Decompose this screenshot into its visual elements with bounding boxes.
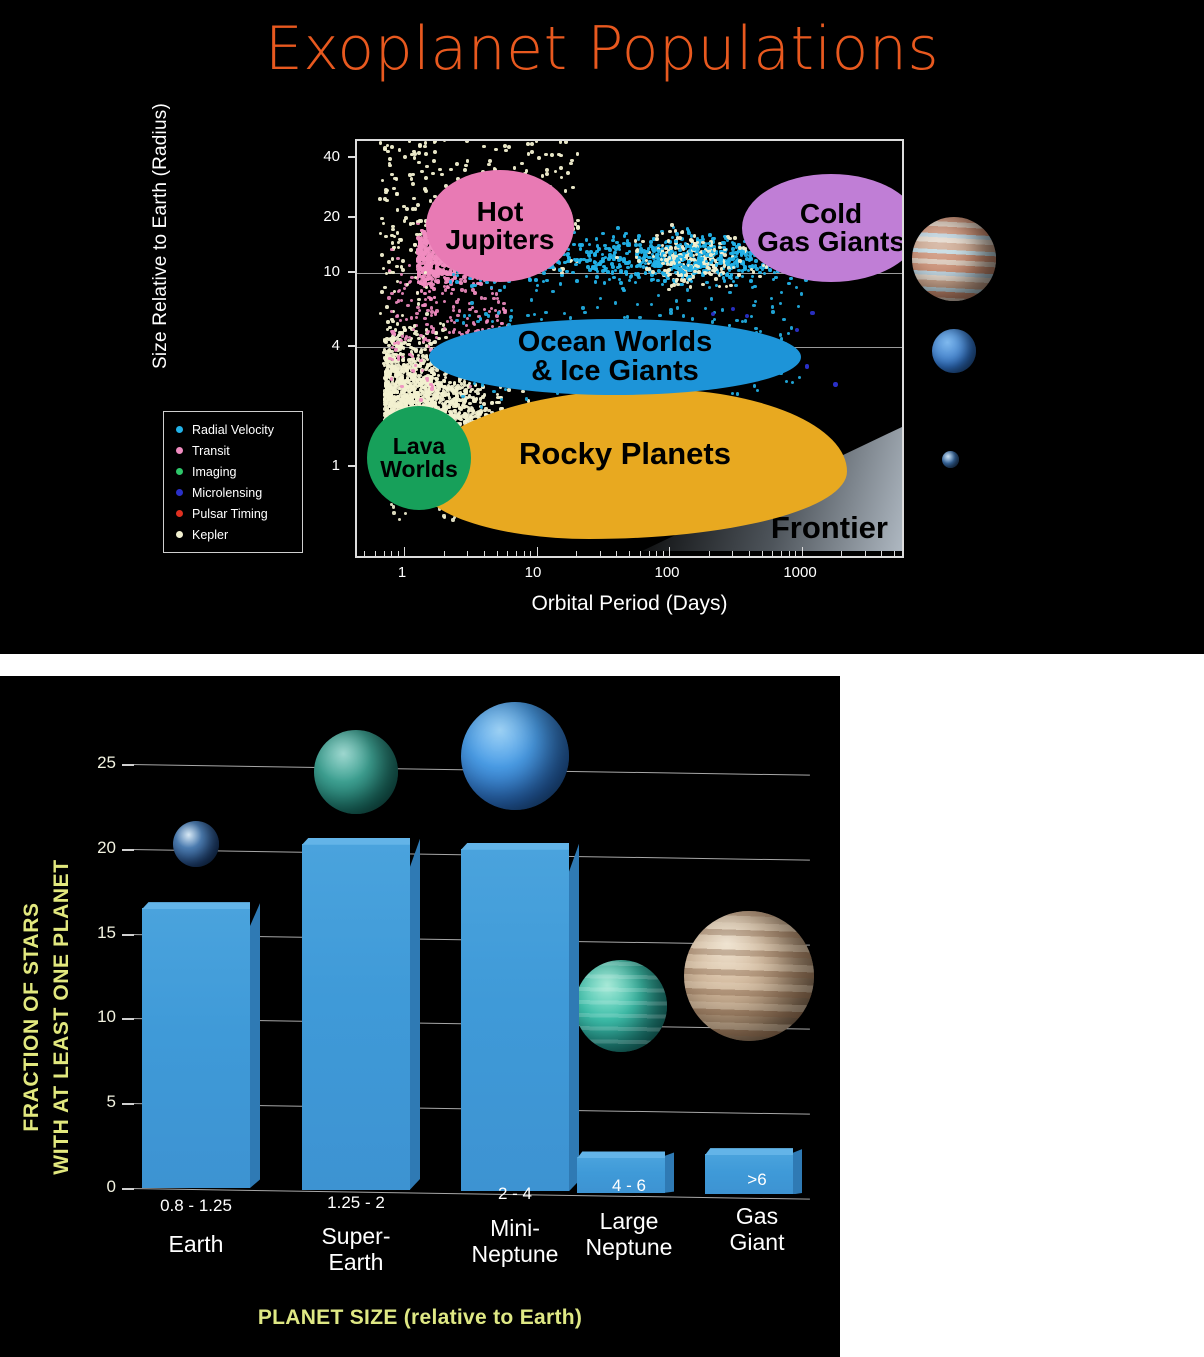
bar-mini-neptune[interactable]	[461, 849, 569, 1191]
region-frontier-label: Frontier	[771, 510, 888, 546]
bar-top-face	[705, 1148, 793, 1155]
legend-dot-icon	[176, 447, 183, 454]
scatter-x-minor-tick	[865, 551, 866, 556]
bar-y-axis-label: FRACTION OF STARS WITH AT LEAST ONE PLAN…	[18, 676, 80, 1357]
scatter-x-minor-tick	[795, 551, 796, 556]
scatter-x-minor-tick	[894, 551, 895, 556]
scatter-x-minor-tick	[404, 547, 405, 556]
bar-ytick-dash	[122, 1103, 134, 1105]
region-ocean-worlds: Ocean Worlds & Ice Giants	[429, 319, 801, 395]
bar-ytick-dash	[122, 1018, 134, 1020]
legend-item-imaging[interactable]: Imaging	[170, 461, 296, 482]
scatter-x-minor-tick	[649, 551, 650, 556]
legend-dot-icon	[176, 531, 183, 538]
bar-ytick-15: 15	[76, 923, 116, 943]
scatter-x-minor-tick	[484, 551, 485, 556]
scatter-x-minor-tick	[467, 551, 468, 556]
bar-category-label-line: Giant	[677, 1230, 837, 1256]
scatter-x-minor-tick	[732, 551, 733, 556]
bar-top-face	[302, 838, 410, 845]
scatter-x-minor-tick	[709, 551, 710, 556]
scatter-x-minor-tick	[749, 551, 750, 556]
legend-item-transit[interactable]: Transit	[170, 440, 296, 461]
scatter-xtick-10: 10	[503, 564, 563, 581]
legend-label: Radial Velocity	[192, 423, 274, 437]
scatter-x-minor-tick	[537, 547, 538, 556]
legend-item-kepler[interactable]: Kepler	[170, 524, 296, 545]
scatter-x-minor-tick	[507, 551, 508, 556]
bar-y-axis-label-line2: WITH AT LEAST ONE PLANET	[50, 859, 74, 1174]
bar-top-face	[142, 902, 250, 909]
scatter-x-minor-tick	[640, 551, 641, 556]
scatter-x-minor-tick	[364, 551, 365, 556]
scatter-x-minor-tick	[375, 551, 376, 556]
bar-top-face	[461, 843, 569, 850]
bar-category-label-line: Super-	[276, 1224, 436, 1250]
super-earth-planet-icon	[314, 730, 398, 814]
bar-range-label-3: 4 - 6	[559, 1176, 699, 1196]
bar-super-earth[interactable]	[302, 844, 410, 1190]
earth-planet-icon	[173, 821, 219, 867]
bar-y-axis-label-line1: FRACTION OF STARS	[20, 902, 44, 1131]
gas-giant-bands	[684, 911, 814, 1041]
bar-range-label-4: >6	[687, 1170, 827, 1190]
bar-category-label-0: Earth	[116, 1232, 276, 1258]
scatter-x-minor-tick	[663, 551, 664, 556]
scatter-y-axis-label: Size Relative to Earth (Radius)	[150, 71, 172, 401]
bar-category-label-line: Earth	[116, 1232, 276, 1258]
legend-item-microlensing[interactable]: Microlensing	[170, 482, 296, 503]
bar-category-label-1: Super-Earth	[276, 1224, 436, 1276]
region-ocean-worlds-label-line1: Ocean Worlds	[518, 328, 712, 357]
bar-category-label-4: GasGiant	[677, 1204, 837, 1256]
scatter-ytickmark-20	[348, 216, 355, 218]
bar-category-label-line: Earth	[276, 1250, 436, 1276]
scatter-ytick-4: 4	[298, 337, 340, 354]
large-neptune-planet-icon	[575, 960, 667, 1052]
scatter-x-minor-tick	[841, 551, 842, 556]
scatter-x-minor-tick	[576, 551, 577, 556]
scatter-x-minor-tick	[600, 551, 601, 556]
legend-item-radial-velocity[interactable]: Radial Velocity	[170, 419, 296, 440]
scatter-x-minor-tick	[656, 551, 657, 556]
bar-range-label-0: 0.8 - 1.25	[126, 1196, 266, 1216]
scatter-xtick-1: 1	[372, 564, 432, 581]
region-hot-jupiters-label-line1: Hot	[446, 198, 555, 226]
legend-label: Transit	[192, 444, 230, 458]
scatter-x-minor-tick	[762, 551, 763, 556]
bar-ytick-dash	[122, 849, 134, 851]
region-lava-worlds-label-line1: Lava	[380, 435, 458, 458]
bar-ytick-10: 10	[76, 1007, 116, 1027]
bar-ytick-25: 25	[76, 753, 116, 773]
scatter-ytickmark-4	[348, 345, 355, 347]
bar-x-axis-label: PLANET SIZE (relative to Earth)	[0, 1306, 840, 1330]
planet-size-bar-chart-panel: FRACTION OF STARS WITH AT LEAST ONE PLAN…	[0, 676, 840, 1357]
scatter-xtick-100: 100	[637, 564, 697, 581]
region-cold-gas-giants-label-line2: Gas Giants	[757, 228, 902, 256]
scatter-ytickmark-10	[348, 271, 355, 273]
scatter-ytickmark-1	[348, 465, 355, 467]
page-title: Exoplanet Populations	[0, 14, 1204, 84]
bar-ytick-5: 5	[76, 1092, 116, 1112]
bar-category-label-line: Gas	[677, 1204, 837, 1230]
region-cold-gas-giants-label-line1: Cold	[757, 200, 902, 228]
scatter-ytick-40: 40	[298, 148, 340, 165]
scatter-x-minor-tick	[802, 547, 803, 556]
bar-side-face	[410, 839, 420, 1190]
scatter-x-minor-tick	[772, 551, 773, 556]
scatter-x-minor-tick	[444, 551, 445, 556]
scatter-x-minor-tick	[616, 551, 617, 556]
legend-label: Pulsar Timing	[192, 507, 268, 521]
scatter-x-minor-tick	[516, 551, 517, 556]
region-ocean-worlds-label-line2: & Ice Giants	[518, 357, 712, 386]
scatter-legend: Radial Velocity Transit Imaging Microlen…	[163, 411, 303, 553]
legend-label: Microlensing	[192, 486, 262, 500]
scatter-ytickmark-40	[348, 156, 355, 158]
bar-ytick-0: 0	[76, 1177, 116, 1197]
bar-side-face	[250, 903, 260, 1188]
legend-dot-icon	[176, 468, 183, 475]
scatter-x-minor-tick	[789, 551, 790, 556]
region-hot-jupiters-label-line2: Jupiters	[446, 226, 555, 254]
mini-neptune-planet-icon	[461, 702, 569, 810]
region-rocky-planets-label: Rocky Planets	[475, 436, 775, 472]
scatter-x-minor-tick	[524, 551, 525, 556]
exoplanet-populations-panel: Exoplanet Populations Size Relative to E…	[0, 0, 1204, 654]
bar-top-face	[577, 1151, 665, 1158]
scatter-x-minor-tick	[881, 551, 882, 556]
region-lava-worlds: Lava Worlds	[367, 406, 471, 510]
neptune-planet-icon	[932, 329, 976, 373]
scatter-x-minor-tick	[530, 551, 531, 556]
legend-dot-icon	[176, 510, 183, 517]
scatter-x-axis-label: Orbital Period (Days)	[355, 592, 904, 616]
region-hot-jupiters: Hot Jupiters	[426, 170, 574, 282]
bar-side-face	[569, 844, 579, 1191]
scatter-x-minor-tick	[669, 547, 670, 556]
bar-ytick-20: 20	[76, 838, 116, 858]
region-lava-worlds-label-line2: Worlds	[380, 458, 458, 481]
large-neptune-bands	[575, 960, 667, 1052]
jupiter-planet-icon	[912, 217, 996, 301]
bar-earth[interactable]	[142, 908, 250, 1188]
bar-ytick-dash	[122, 934, 134, 936]
bar-ytick-dash	[122, 764, 134, 766]
scatter-ytick-10: 10	[298, 263, 340, 280]
legend-dot-icon	[176, 489, 183, 496]
bar-ytick-dash	[122, 1188, 134, 1190]
scatter-x-minor-tick	[629, 551, 630, 556]
scatter-x-minor-tick	[781, 551, 782, 556]
earth-planet-icon	[942, 451, 959, 468]
scatter-plot-area: Frontier Rocky Planets Lava Worlds Ocean…	[355, 139, 904, 558]
scatter-x-minor-tick	[384, 551, 385, 556]
scatter-xtick-1000: 1000	[770, 564, 830, 581]
legend-label: Imaging	[192, 465, 236, 479]
legend-dot-icon	[176, 426, 183, 433]
scatter-ytick-20: 20	[298, 208, 340, 225]
scatter-x-minor-tick	[398, 551, 399, 556]
legend-label: Kepler	[192, 528, 228, 542]
gas-giant-planet-icon	[684, 911, 814, 1041]
bar-range-label-1: 1.25 - 2	[286, 1193, 426, 1213]
scatter-x-minor-tick	[497, 551, 498, 556]
scatter-ytick-1: 1	[298, 457, 340, 474]
legend-item-pulsar-timing[interactable]: Pulsar Timing	[170, 503, 296, 524]
scatter-x-minor-tick	[391, 551, 392, 556]
